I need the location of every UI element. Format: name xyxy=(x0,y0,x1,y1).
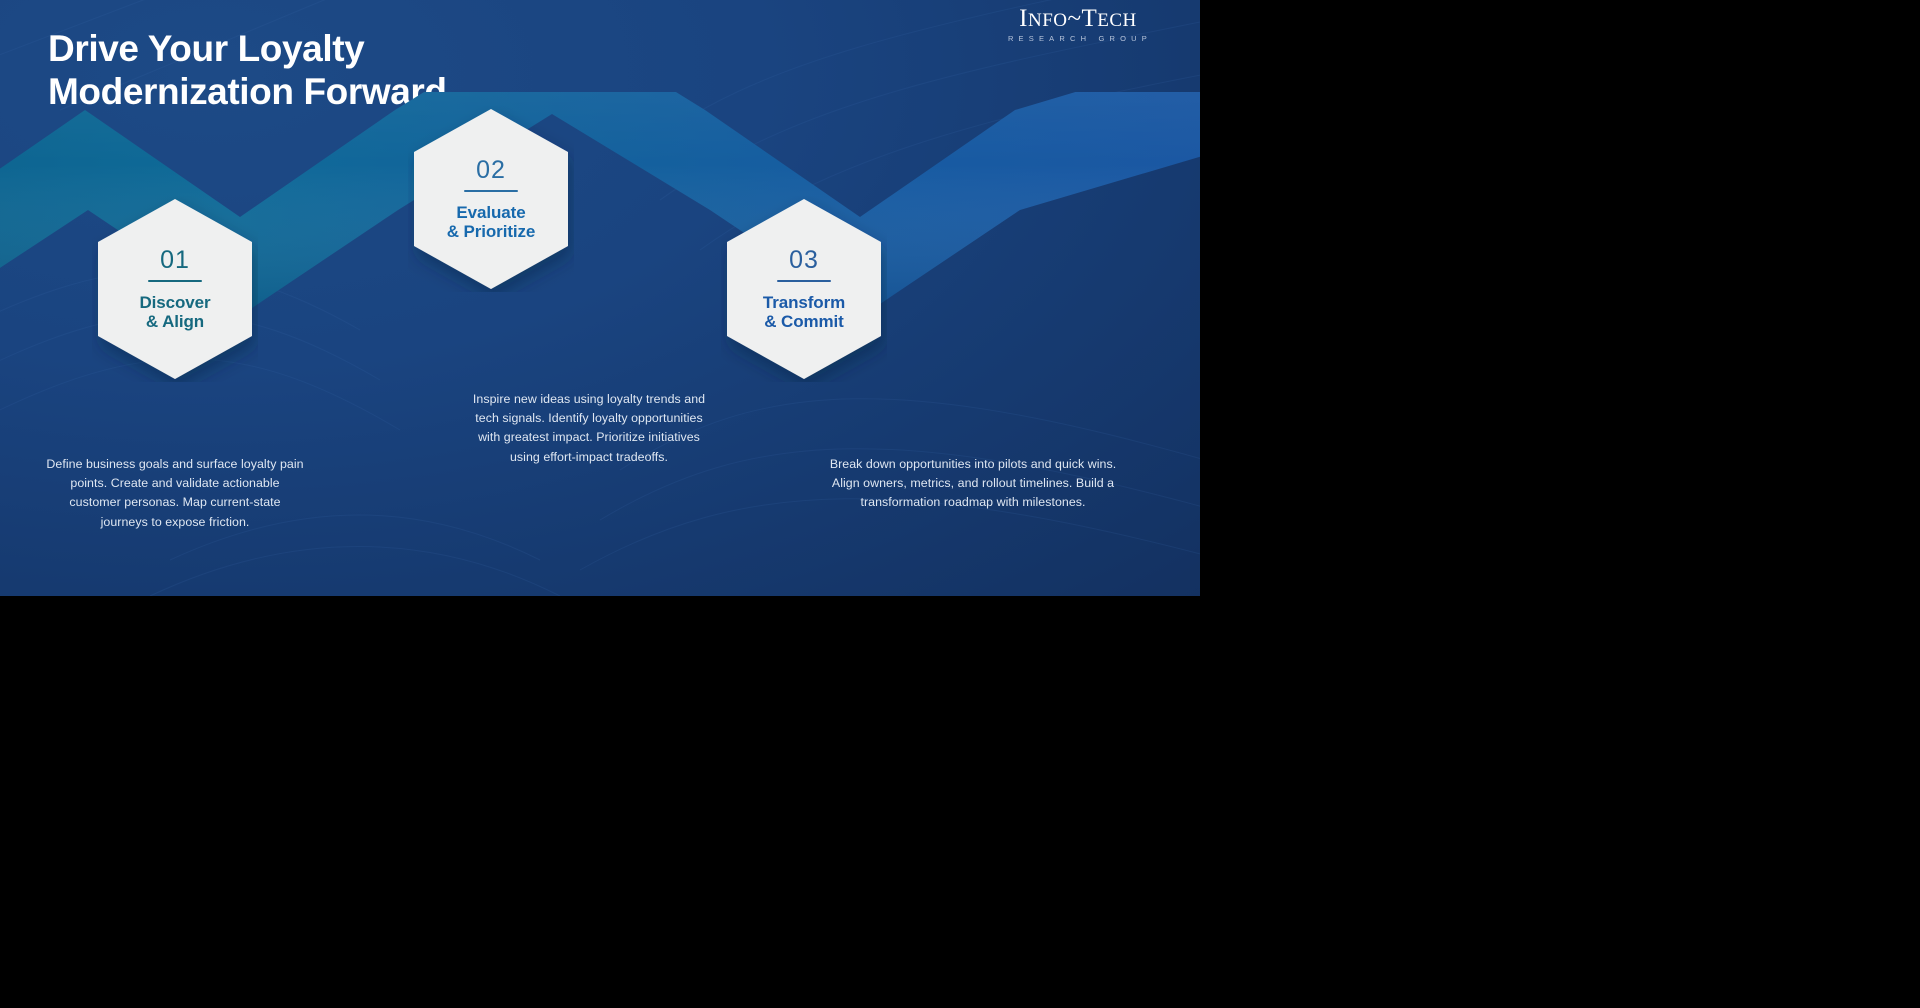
brand-logo: INFO~TECH RESEARCH GROUP xyxy=(1004,6,1152,43)
step-2-number: 02 xyxy=(476,158,506,183)
logo-wordmark: INFO~TECH xyxy=(1004,6,1152,31)
process-step-2[interactable]: 02 Evaluate & Prioritize xyxy=(408,106,574,292)
step-2-label: Evaluate & Prioritize xyxy=(447,203,536,242)
process-step-1[interactable]: 01 Discover & Align xyxy=(92,196,258,382)
screenshot-canvas: Drive Your Loyalty Modernization Forward… xyxy=(0,0,1920,1008)
step-2-description: Inspire new ideas using loyalty trends a… xyxy=(468,390,710,467)
logo-tagline: RESEARCH GROUP xyxy=(1004,34,1152,43)
step-1-description: Define business goals and surface loyalt… xyxy=(46,455,304,532)
process-step-3[interactable]: 03 Transform & Commit xyxy=(721,196,887,382)
hexagon-3-content: 03 Transform & Commit xyxy=(721,196,887,382)
hexagon-2-content: 02 Evaluate & Prioritize xyxy=(408,106,574,292)
step-3-description: Break down opportunities into pilots and… xyxy=(828,455,1118,513)
step-3-divider xyxy=(777,280,831,282)
hexagon-1-content: 01 Discover & Align xyxy=(92,196,258,382)
step-2-divider xyxy=(464,190,518,192)
hexagon-3: 03 Transform & Commit xyxy=(721,196,887,382)
step-1-label: Discover & Align xyxy=(139,293,210,332)
slide: Drive Your Loyalty Modernization Forward… xyxy=(0,0,1200,596)
step-1-number: 01 xyxy=(160,248,190,273)
step-3-label: Transform & Commit xyxy=(763,293,845,332)
hexagon-2: 02 Evaluate & Prioritize xyxy=(408,106,574,292)
step-3-number: 03 xyxy=(789,248,819,273)
step-1-divider xyxy=(148,280,202,282)
hexagon-1: 01 Discover & Align xyxy=(92,196,258,382)
